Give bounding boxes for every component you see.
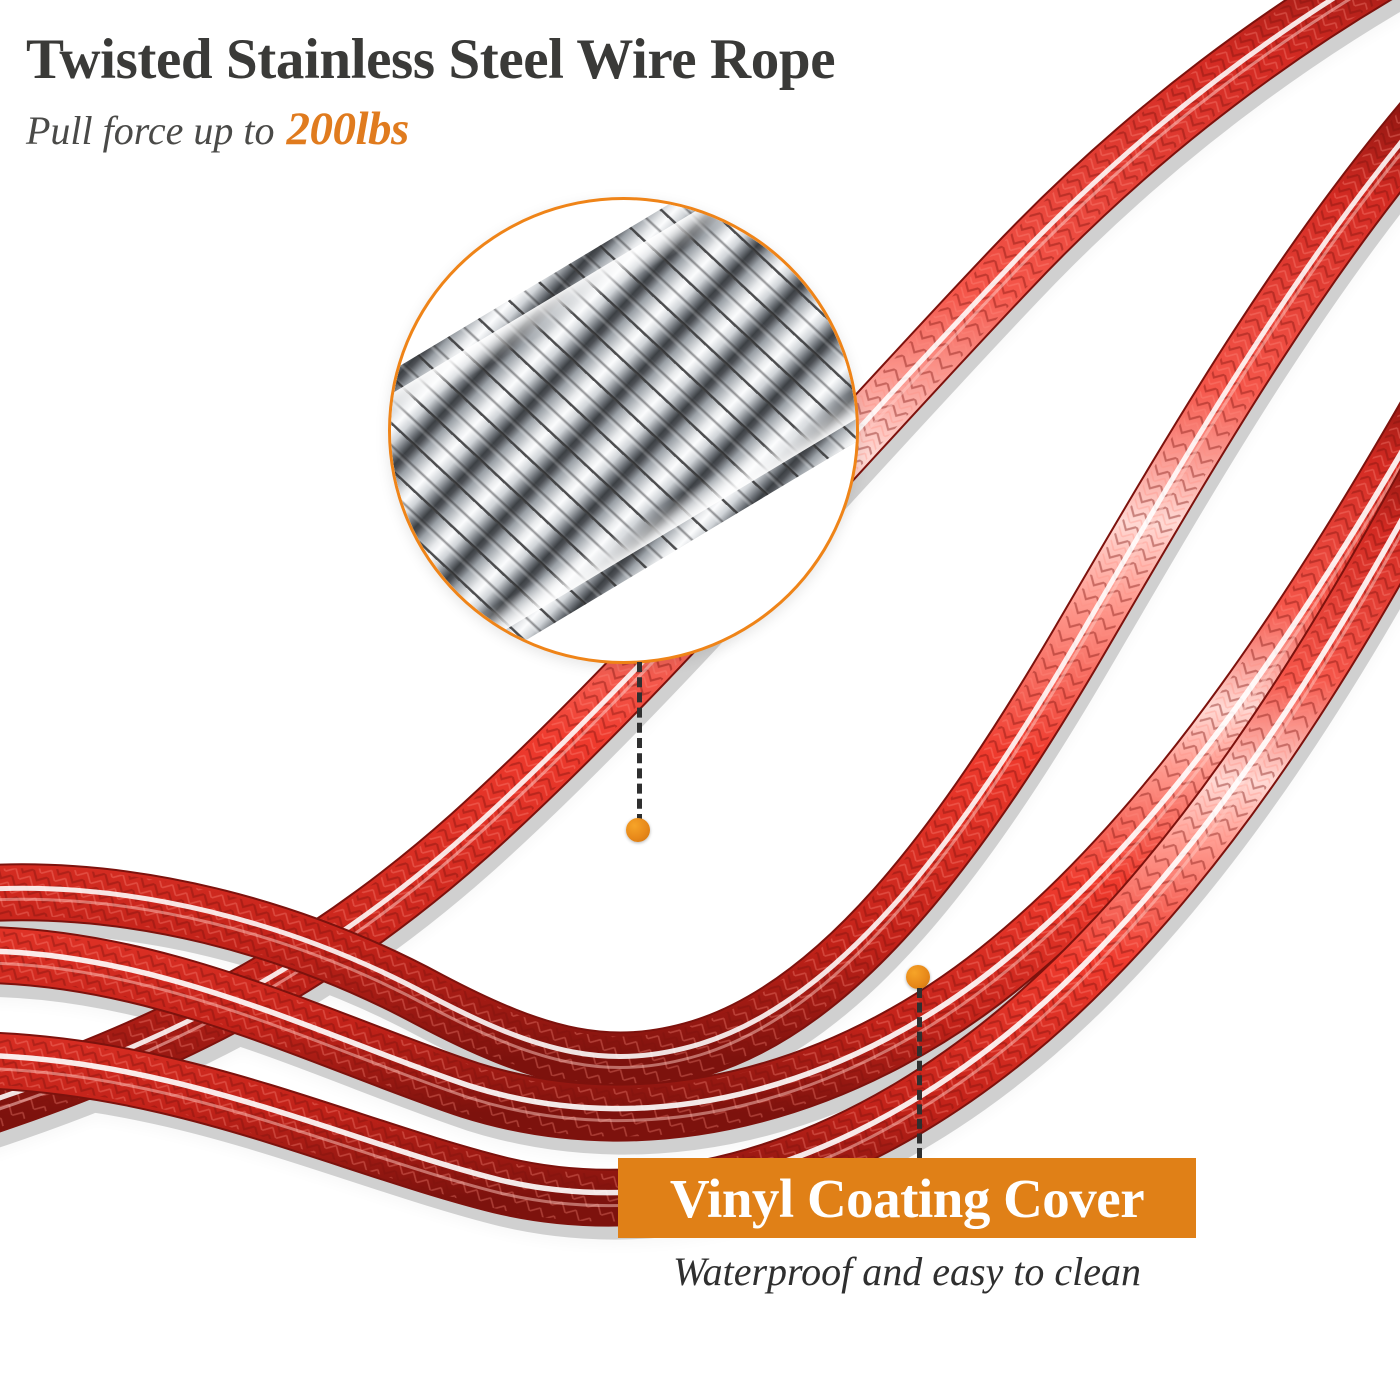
subtitle: Pull force up to 200lbs (26, 102, 1026, 156)
product-feature-image: Twisted Stainless Steel Wire Rope Pull f… (0, 0, 1400, 1400)
magnifier-circle (388, 197, 859, 664)
banner-caption: Waterproof and easy to clean (618, 1248, 1196, 1295)
banner-label: Vinyl Coating Cover (670, 1171, 1144, 1226)
subtitle-prefix: Pull force up to (26, 107, 274, 154)
steel-strand-bundle (391, 200, 856, 661)
callout-dot-vinyl-coating (906, 965, 930, 989)
vinyl-coating-banner: Vinyl Coating Cover (618, 1158, 1196, 1238)
leader-line-steel-core (637, 662, 642, 824)
headline-block: Twisted Stainless Steel Wire Rope Pull f… (26, 30, 1026, 156)
pull-force-value: 200lbs (286, 102, 408, 156)
page-title: Twisted Stainless Steel Wire Rope (26, 30, 1026, 90)
leader-line-vinyl-coating (917, 988, 922, 1158)
magnified-steel-core-image (391, 200, 856, 661)
callout-dot-steel-core (626, 818, 650, 842)
